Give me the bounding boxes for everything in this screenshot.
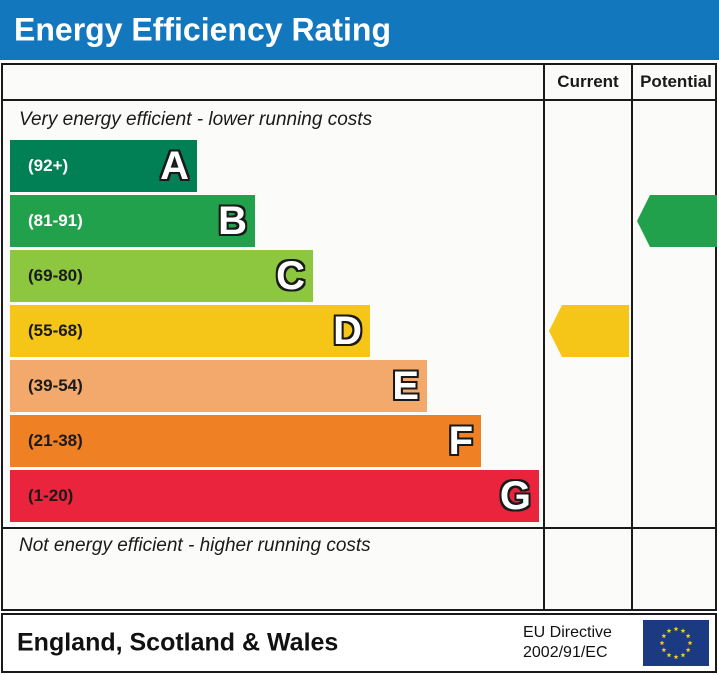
band-letter-b: B: [218, 201, 247, 241]
band-range-label-d: (55-68): [28, 321, 83, 341]
band-letter-c: C: [276, 256, 305, 296]
band-bar-b: (81-91)B: [10, 195, 255, 247]
band-bar-a: (92+)A: [10, 140, 197, 192]
page-title: Energy Efficiency Rating: [14, 12, 391, 49]
column-header-current: Current: [545, 65, 631, 99]
band-bar-g: (1-20)G: [10, 470, 539, 522]
eu-flag-icon: [643, 620, 709, 666]
band-range-label-f: (21-38): [28, 431, 83, 451]
bottom-divider: [3, 527, 715, 529]
energy-efficiency-rating-chart: Energy Efficiency Rating Current Potenti…: [0, 0, 719, 675]
band-letter-a: A: [160, 146, 189, 186]
potential-rating-badge: [637, 195, 717, 247]
footer-bar: England, Scotland & Wales EU Directive 2…: [1, 613, 717, 673]
rating-table: Current Potential Very energy efficient …: [1, 63, 717, 611]
column-header-potential: Potential: [633, 65, 719, 99]
band-letter-d: D: [333, 311, 362, 351]
band-range-label-c: (69-80): [28, 266, 83, 286]
band-letter-f: F: [449, 421, 473, 461]
band-bar-d: (55-68)D: [10, 305, 370, 357]
chart-title-bar: Energy Efficiency Rating: [0, 0, 719, 60]
band-letter-e: E: [392, 366, 419, 406]
band-range-label-g: (1-20): [28, 486, 73, 506]
band-bar-c: (69-80)C: [10, 250, 313, 302]
eu-directive-line2: 2002/91/EC: [523, 643, 612, 663]
band-bar-e: (39-54)E: [10, 360, 427, 412]
current-rating-badge: [549, 305, 629, 357]
band-bar-f: (21-38)F: [10, 415, 481, 467]
band-letter-g: G: [500, 476, 531, 516]
band-range-label-b: (81-91): [28, 211, 83, 231]
band-range-label-e: (39-54): [28, 376, 83, 396]
band-range-label-a: (92+): [28, 156, 68, 176]
footer-region-label: England, Scotland & Wales: [17, 629, 338, 658]
caption-not-efficient: Not energy efficient - higher running co…: [19, 535, 371, 557]
eu-directive-line1: EU Directive: [523, 623, 612, 643]
footer-eu-directive: EU Directive 2002/91/EC: [523, 623, 612, 663]
